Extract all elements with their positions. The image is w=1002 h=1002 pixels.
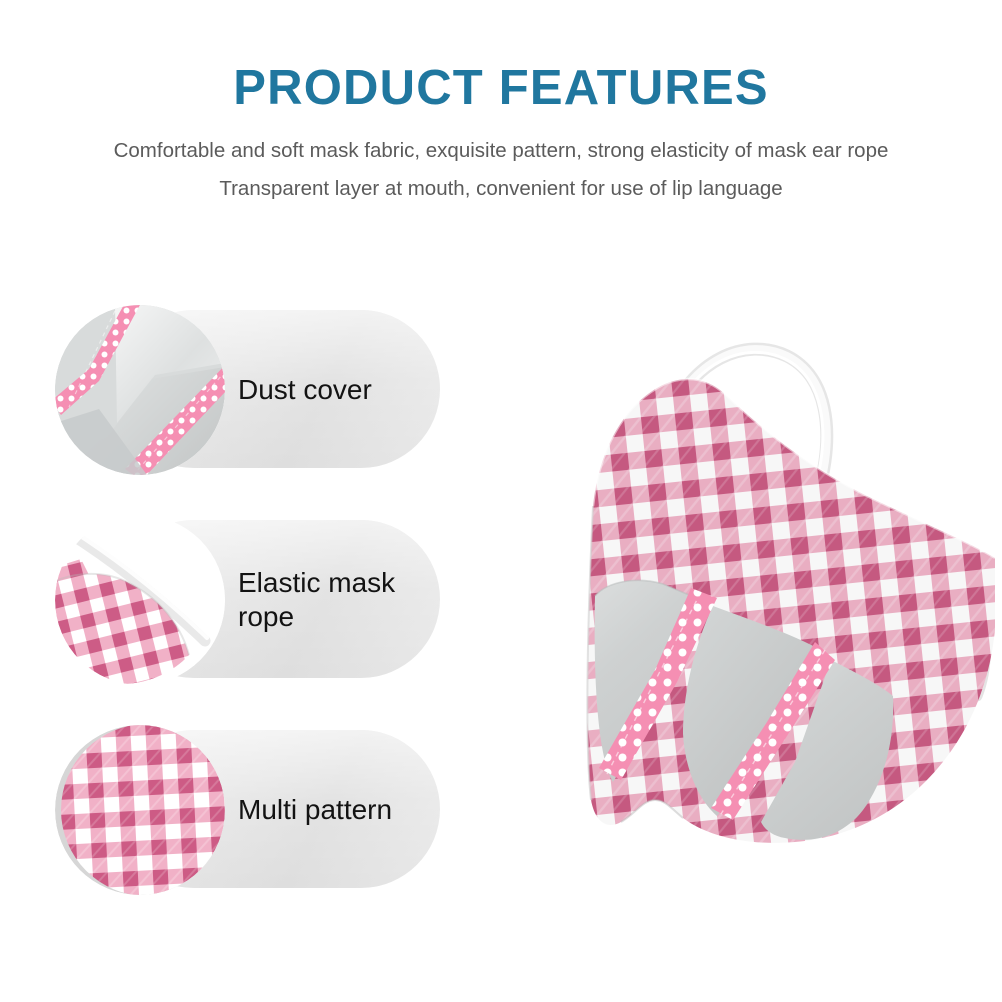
multi-pattern-closeup-photo xyxy=(55,725,225,895)
pink-gingham-face-mask-photo xyxy=(495,330,1002,890)
feature-callout-elastic-mask-rope[interactable]: Elastic mask rope xyxy=(55,510,455,690)
feature-label-dust-cover: Dust cover xyxy=(238,300,448,480)
dust-cover-closeup-photo xyxy=(55,305,225,475)
elastic-rope-closeup-photo xyxy=(55,515,225,685)
feature-callout-multi-pattern[interactable]: Multi pattern xyxy=(55,720,455,900)
feature-label-elastic-mask-rope: Elastic mask rope xyxy=(238,510,448,690)
feature-label-multi-pattern: Multi pattern xyxy=(238,720,448,900)
feature-callout-list: Dust cover xyxy=(0,0,470,1002)
feature-callout-dust-cover[interactable]: Dust cover xyxy=(55,300,455,480)
